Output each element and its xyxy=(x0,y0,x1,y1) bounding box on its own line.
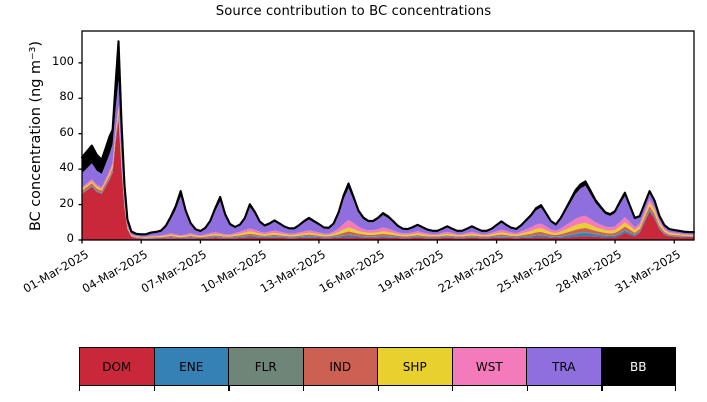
legend-tick xyxy=(79,386,80,391)
area-series-bb xyxy=(82,41,694,235)
legend-item-label: ENE xyxy=(179,360,203,374)
figure-canvas: Source contribution to BC concentrations… xyxy=(0,0,707,402)
legend-tick xyxy=(228,386,229,391)
legend-tick xyxy=(154,386,155,391)
legend-item-wst[interactable]: WST xyxy=(452,348,527,385)
legend-tick xyxy=(601,386,602,391)
stacked-area-plot xyxy=(0,0,707,402)
legend-tick xyxy=(303,386,304,391)
legend-tick xyxy=(452,386,453,391)
legend-item-label: SHP xyxy=(403,360,427,374)
legend-item-label: DOM xyxy=(102,360,131,374)
legend-item-label: IND xyxy=(329,360,351,374)
legend-item-ind[interactable]: IND xyxy=(303,348,378,385)
total-outline xyxy=(82,41,694,234)
legend-item-label: WST xyxy=(476,360,503,374)
legend-item-ene[interactable]: ENE xyxy=(154,348,229,385)
legend-item-label: FLR xyxy=(255,360,277,374)
legend-item-label: BB xyxy=(630,360,646,374)
legend-item-flr[interactable]: FLR xyxy=(228,348,303,385)
legend-tick xyxy=(527,386,528,391)
legend-item-tra[interactable]: TRA xyxy=(526,348,601,385)
legend-color-bar: DOMENEFLRINDSHPWSTTRABB xyxy=(79,347,676,386)
legend-item-dom[interactable]: DOM xyxy=(80,348,154,385)
legend-item-label: TRA xyxy=(552,360,575,374)
legend-tick xyxy=(378,386,379,391)
legend-tick-marks xyxy=(79,386,676,402)
legend-tick xyxy=(675,386,676,391)
legend-item-bb[interactable]: BB xyxy=(601,348,676,385)
legend-item-shp[interactable]: SHP xyxy=(377,348,452,385)
legend: DOMENEFLRINDSHPWSTTRABB xyxy=(79,347,676,402)
